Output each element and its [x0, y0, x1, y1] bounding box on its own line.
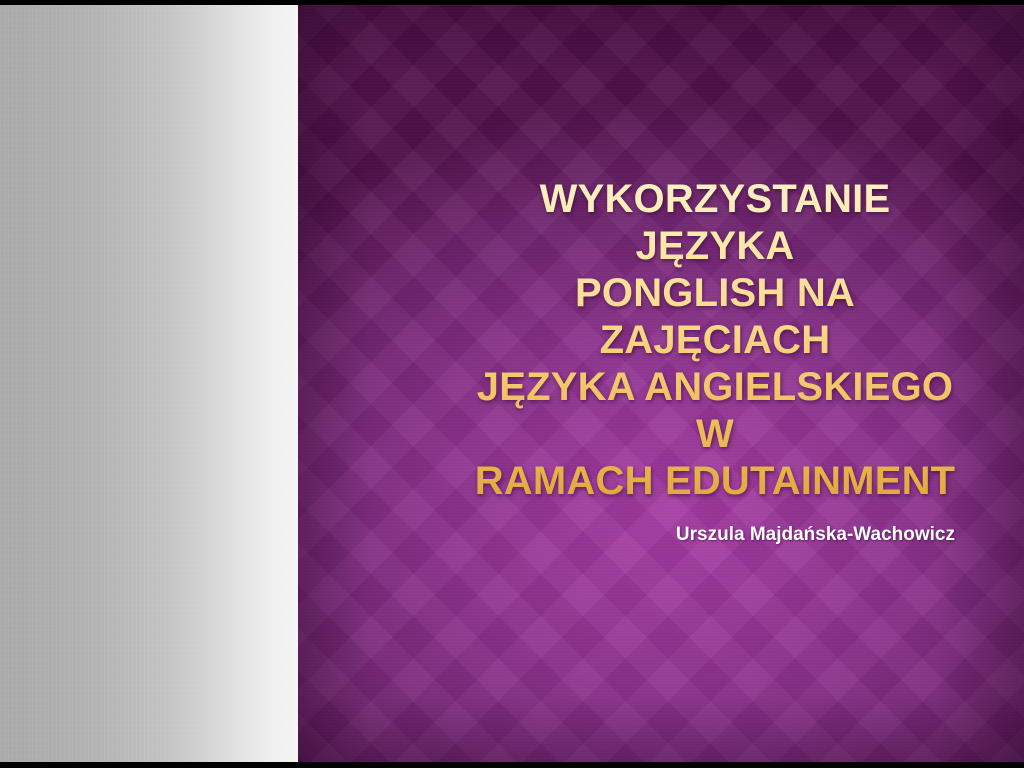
slide-subtitle-author: Urszula Majdańska-Wachowicz	[474, 523, 956, 547]
left-panel-texture	[0, 5, 298, 762]
presentation-slide: Wykorzystanie języka ponglish na zajęcia…	[0, 0, 1024, 768]
slide-title: Wykorzystanie języka ponglish na zajęcia…	[474, 176, 956, 505]
left-gray-panel	[0, 5, 298, 762]
title-text-block: Wykorzystanie języka ponglish na zajęcia…	[474, 176, 956, 547]
title-line-2: ponglish na zajęciach	[575, 271, 855, 362]
title-line-3: języka angielskiego w	[477, 365, 953, 456]
title-line-4: ramach edutainment	[475, 459, 956, 503]
title-line-1: Wykorzystanie języka	[540, 177, 891, 268]
